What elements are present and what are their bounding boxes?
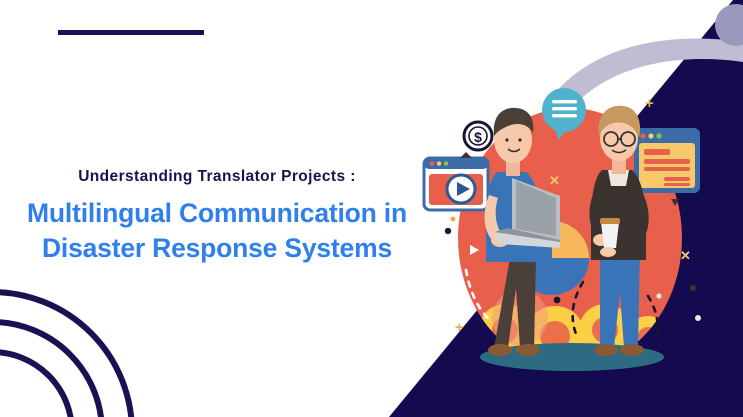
slide-canvas: $ [0,0,743,417]
headline-line-1: Multilingual Communication in [0,196,434,231]
title-block: Understanding Translator Projects : Mult… [0,168,434,266]
top-left-rule [58,30,204,35]
eyebrow-text: Understanding Translator Projects : [0,168,434,187]
page-title: Multilingual Communication in Disaster R… [0,196,434,266]
headline-line-2: Disaster Response Systems [0,231,434,266]
